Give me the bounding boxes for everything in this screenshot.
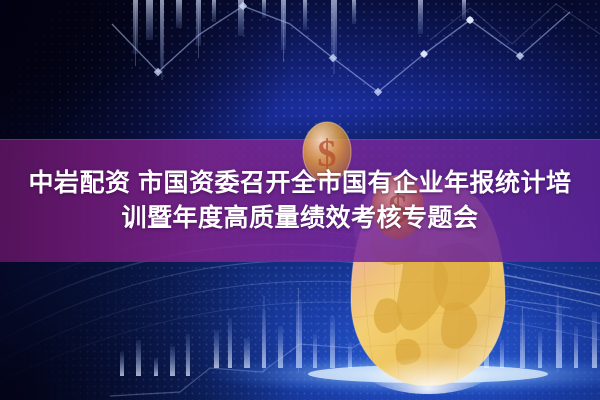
promo-image-canvas: $ $ 中岩配资 市国资委召开全市国有企业年报统计培 训暨年度高质量绩效考核专题…: [0, 0, 600, 400]
headline-line-2: 训暨年度高质量绩效考核专题会: [121, 202, 478, 235]
headline-block: 中岩配资 市国资委召开全市国有企业年报统计培 训暨年度高质量绩效考核专题会: [0, 139, 600, 262]
headline-line-1: 中岩配资 市国资委召开全市国有企业年报统计培: [29, 167, 572, 200]
